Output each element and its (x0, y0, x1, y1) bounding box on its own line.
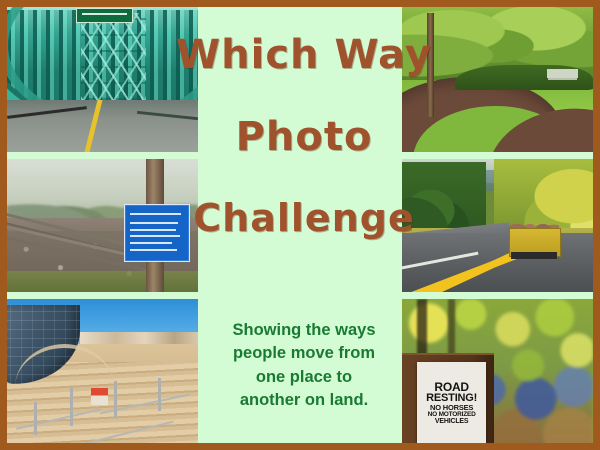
trail-tree-trunk-2 (448, 299, 456, 359)
photo-public-steps[interactable] (7, 299, 198, 450)
subtitle-line-2: people move from (195, 342, 413, 365)
title-line-photo: Photo (236, 117, 373, 157)
highway-truck-wheels (511, 252, 557, 259)
subtitle-line-1: Showing the ways (195, 319, 413, 342)
road-resting-sign: ROAD RESTING! NO HORSES NO MOTORIZED VEH… (417, 362, 486, 444)
title-block: Which Way Photo Challenge (200, 7, 408, 307)
photo-park-path[interactable] (402, 7, 593, 152)
steps-post-2 (70, 387, 73, 426)
road-resting-line-4: NO MOTORIZED (428, 412, 476, 419)
steps-post-4 (158, 378, 161, 411)
steps-post-3 (114, 381, 117, 417)
path-park-bench (547, 69, 578, 78)
entering-washington-sign (76, 8, 133, 23)
road-resting-line-5: VEHICLES (435, 418, 468, 425)
railroad-grass-verge (7, 271, 198, 292)
photo-highway[interactable] (402, 159, 593, 292)
steps-orange-marker (91, 388, 108, 405)
photo-collage-poster: ROAD RESTING! NO HORSES NO MOTORIZED VEH… (0, 0, 600, 450)
photo-railroad-crossing[interactable] (7, 159, 198, 292)
title-line-challenge: Challenge (193, 199, 414, 237)
subtitle-block: Showing the ways people move from one pl… (195, 319, 413, 413)
photo-trail-sign[interactable]: ROAD RESTING! NO HORSES NO MOTORIZED VEH… (402, 299, 593, 450)
highway-truck-saplings (509, 204, 559, 231)
title-line-which-way: Which Way (176, 35, 432, 75)
subtitle-line-4: another on land. (195, 389, 413, 412)
steps-post-1 (34, 402, 37, 435)
subtitle-line-3: one place to (195, 366, 413, 389)
bridge-roadway (7, 100, 198, 152)
union-pacific-sign (124, 204, 191, 262)
photo-bridge[interactable] (7, 7, 198, 152)
